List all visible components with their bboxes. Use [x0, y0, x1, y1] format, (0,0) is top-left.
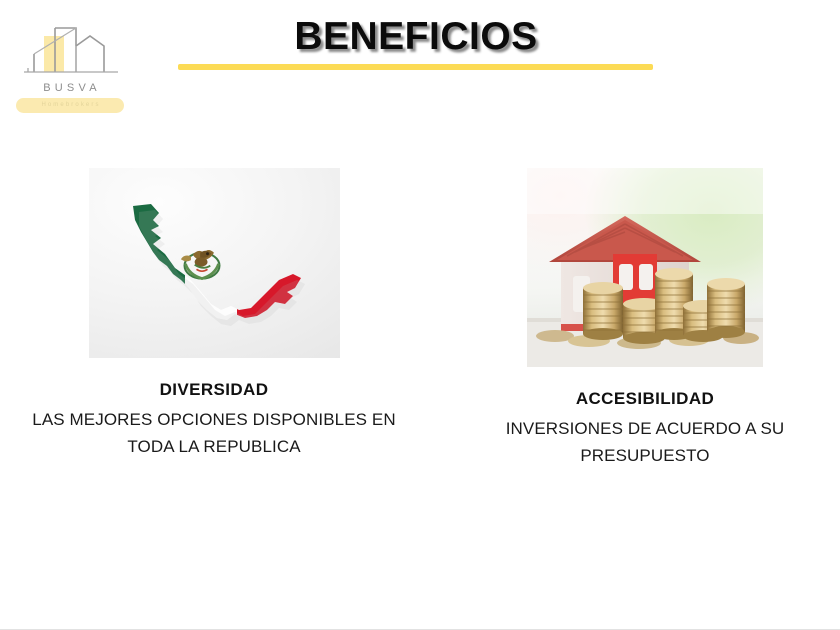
title-underline-rule: [178, 64, 653, 70]
slide-canvas: BUSVA Homebrokers BENEFICIOS: [0, 0, 840, 629]
benefit-column-accesibilidad: ACCESIBILIDAD INVERSIONES DE ACUERDO A S…: [450, 168, 840, 469]
mexico-map-flag-image: [89, 168, 340, 358]
benefit-body: LAS MEJORES OPCIONES DISPONIBLES EN TODA…: [14, 406, 414, 460]
benefit-body: INVERSIONES DE ACUERDO A SU PRESUPUESTO: [450, 415, 840, 469]
busva-buildings-mark-icon: [14, 24, 126, 82]
house-and-coins-image: [527, 168, 763, 367]
logo-tagline: Homebrokers: [16, 99, 124, 112]
page-title: BENEFICIOS: [178, 14, 654, 60]
benefit-heading: DIVERSIDAD: [14, 379, 414, 401]
busva-logo[interactable]: BUSVA Homebrokers: [14, 24, 126, 112]
logo-wordmark: BUSVA: [14, 82, 126, 94]
benefit-column-diversidad: DIVERSIDAD LAS MEJORES OPCIONES DISPONIB…: [14, 168, 414, 460]
benefit-heading: ACCESIBILIDAD: [450, 388, 840, 410]
